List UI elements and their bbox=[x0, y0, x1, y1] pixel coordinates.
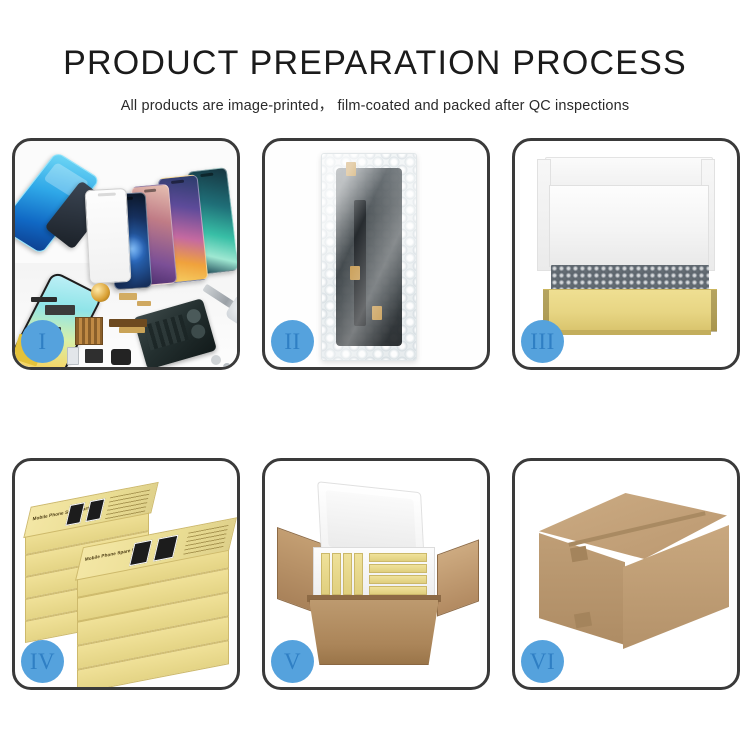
label-text-lines bbox=[183, 525, 228, 556]
carton-tape-lower bbox=[574, 612, 592, 629]
inner-box bbox=[369, 575, 427, 584]
spare-part bbox=[67, 347, 79, 365]
chip-grid-part bbox=[75, 317, 103, 345]
header: PRODUCT PREPARATION PROCESS All products… bbox=[0, 0, 750, 115]
inner-box bbox=[343, 553, 352, 595]
step-badge-6: VI bbox=[521, 640, 564, 683]
screen-protector-glass bbox=[85, 188, 132, 284]
inner-box bbox=[369, 564, 427, 573]
step-badge-5: V bbox=[271, 640, 314, 683]
gold-coil-part bbox=[91, 283, 110, 302]
steps-row-2: Mobile Phone Spare Parts Mobile Phone Sp… bbox=[12, 458, 738, 690]
label-window bbox=[153, 535, 178, 562]
wrapped-part bbox=[336, 168, 402, 346]
spare-part bbox=[137, 301, 151, 306]
inner-box bbox=[369, 553, 427, 562]
label-window bbox=[65, 502, 85, 526]
notch-icon bbox=[200, 173, 213, 178]
label-window bbox=[85, 498, 105, 522]
bubble-wrap-bag bbox=[321, 153, 417, 361]
steps-grid: I II bbox=[12, 138, 738, 690]
adhesive-tab bbox=[372, 306, 382, 320]
spare-part bbox=[109, 319, 147, 327]
screw-part bbox=[223, 363, 231, 367]
notch-icon bbox=[171, 180, 184, 184]
step-panel-2[interactable]: II bbox=[262, 138, 490, 370]
carton-flap-right bbox=[437, 539, 479, 616]
spare-part bbox=[85, 349, 103, 363]
adhesive-tab bbox=[346, 162, 356, 176]
yellow-box-bottom-edge bbox=[549, 330, 711, 335]
yellow-box-front bbox=[543, 289, 717, 331]
step-panel-3[interactable]: III bbox=[512, 138, 740, 370]
step-badge-4: IV bbox=[21, 640, 64, 683]
step-panel-6[interactable]: VI bbox=[512, 458, 740, 690]
bubble-wrap-fill bbox=[551, 265, 709, 291]
spare-part bbox=[119, 293, 137, 300]
screw-part bbox=[211, 355, 221, 365]
step-panel-1[interactable]: I bbox=[12, 138, 240, 370]
spare-part bbox=[119, 327, 145, 333]
label-window bbox=[129, 540, 152, 567]
step-panel-5[interactable]: V bbox=[262, 458, 490, 690]
notch-icon bbox=[144, 189, 156, 193]
step-panel-4[interactable]: Mobile Phone Spare Parts Mobile Phone Sp… bbox=[12, 458, 240, 690]
foam-lid-face bbox=[549, 185, 709, 267]
spare-part bbox=[111, 349, 131, 365]
page-title: PRODUCT PREPARATION PROCESS bbox=[0, 44, 750, 83]
inner-box bbox=[321, 553, 330, 595]
spare-part bbox=[31, 297, 57, 302]
step-badge-2: II bbox=[271, 320, 314, 363]
inner-box bbox=[354, 553, 363, 595]
page-subtitle: All products are image-printed， film-coa… bbox=[0, 94, 750, 115]
adhesive-tab bbox=[350, 266, 360, 280]
spare-part bbox=[45, 305, 75, 315]
carton-body bbox=[309, 599, 439, 665]
step-badge-1: I bbox=[21, 320, 64, 363]
inner-box bbox=[369, 586, 427, 595]
steps-row-1: I II bbox=[12, 138, 738, 370]
inner-box bbox=[332, 553, 341, 595]
flex-cable bbox=[354, 200, 366, 326]
product-preparation-infographic: PRODUCT PREPARATION PROCESS All products… bbox=[0, 0, 750, 750]
step-badge-3: III bbox=[521, 320, 564, 363]
carton-tape-upper bbox=[570, 546, 588, 563]
